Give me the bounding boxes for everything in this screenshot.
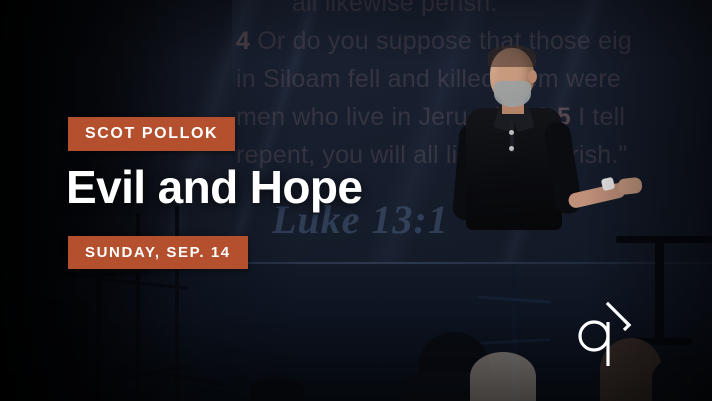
laptop-silhouette	[9, 240, 67, 272]
shirt-button	[509, 130, 514, 135]
sermon-thumbnail: all likewise perish. 4 Or do you suppose…	[0, 0, 712, 401]
hair	[488, 45, 536, 67]
logo-mark	[571, 296, 643, 366]
gt-church-logo	[571, 296, 643, 366]
speaker-name-badge: SCOT POLLOK	[68, 117, 235, 151]
verse-number: 4	[236, 27, 250, 55]
shirt-button	[509, 146, 514, 151]
ear	[528, 70, 537, 83]
date-badge: SUNDAY, SEP. 14	[68, 236, 248, 269]
audience-head	[250, 378, 304, 401]
audience-head	[652, 356, 712, 401]
podium-table-top	[616, 236, 712, 243]
sermon-title: Evil and Hope	[66, 160, 362, 214]
podium-post	[655, 243, 664, 343]
beard	[494, 81, 531, 107]
scripture-line: all likewise perish.	[292, 0, 497, 22]
stage-equipment-rail	[24, 296, 30, 401]
audience-head	[470, 352, 536, 401]
stage-equipment-case	[0, 300, 86, 401]
